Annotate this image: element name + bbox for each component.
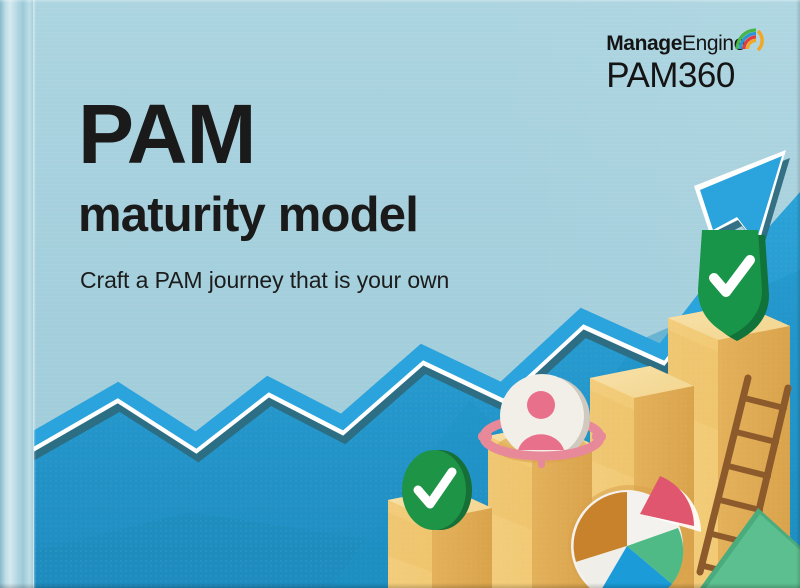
logo-wordmark: ManageEngine — [606, 32, 745, 56]
book-spine — [0, 0, 34, 588]
check-circle-icon — [402, 450, 472, 530]
logo-product-name: PAM360 — [606, 58, 745, 95]
cover-title-block: PAM maturity model Craft a PAM journey t… — [78, 96, 449, 295]
page-tagline: Craft a PAM journey that is your own — [80, 267, 449, 295]
manage-engine-logo: ManageEngine PAM360 — [606, 32, 745, 95]
cover-right-edge — [796, 0, 800, 588]
cover-bottom-edge — [0, 583, 800, 588]
page-title: PAM — [78, 96, 449, 173]
rainbow-arc-icon — [734, 22, 764, 52]
cover-top-edge — [0, 0, 800, 3]
book-spine-edge — [33, 0, 36, 588]
book-cover: PAM maturity model Craft a PAM journey t… — [0, 0, 800, 588]
page-subtitle: maturity model — [78, 191, 449, 240]
logo-manage-text: Manage — [606, 32, 682, 55]
